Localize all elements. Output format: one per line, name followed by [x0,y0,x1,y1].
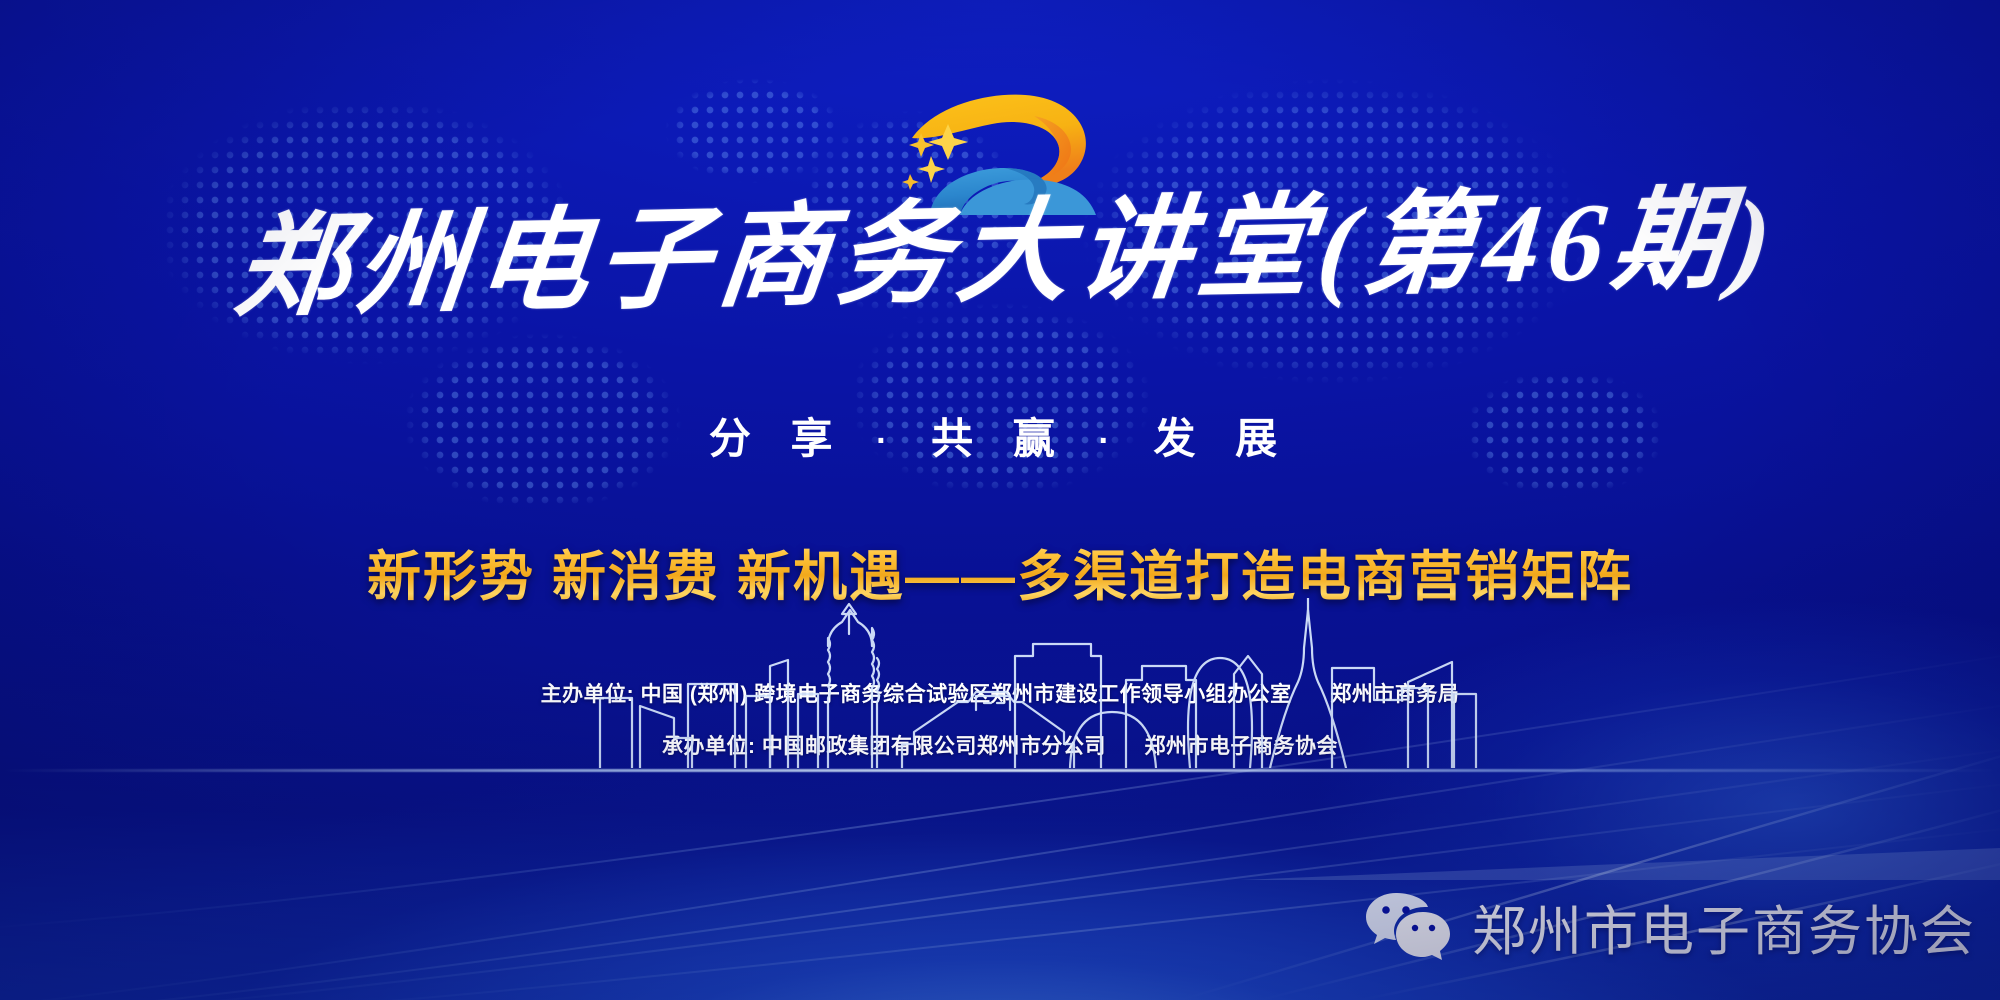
background-vignette [0,0,2000,1000]
event-poster: 郑州电子商务大讲堂(第46期) 分 享 · 共 赢 · 发 展 新形势 新消费 … [0,0,2000,1000]
